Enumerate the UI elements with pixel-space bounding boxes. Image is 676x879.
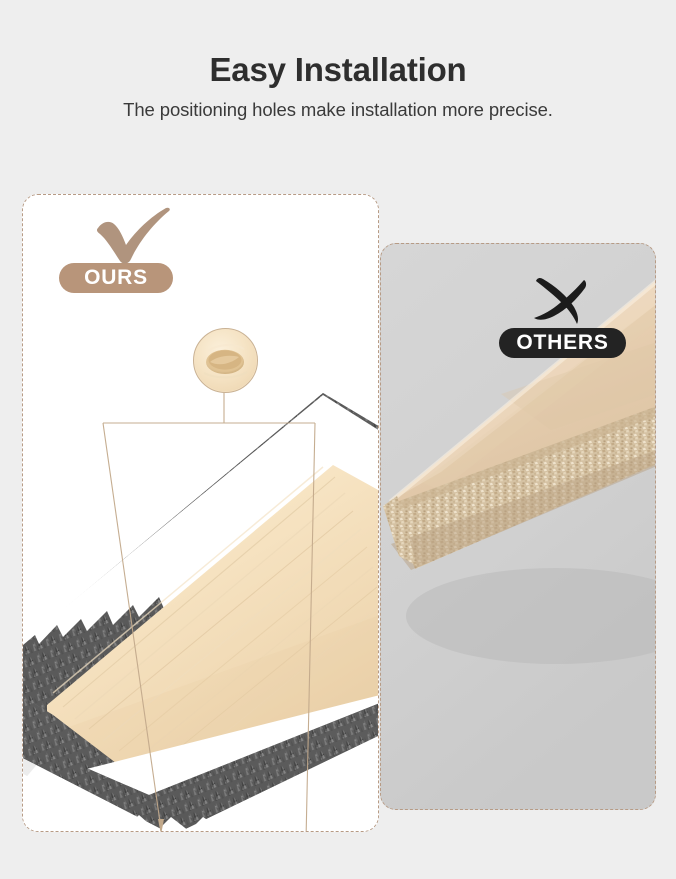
hole-detail-graphic <box>194 329 257 392</box>
comparison-panel-ours: OURS <box>22 194 379 832</box>
page-subtitle: The positioning holes make installation … <box>0 88 676 121</box>
badge-ours: OURS <box>59 263 173 293</box>
badge-block-ours: OURS <box>59 207 173 293</box>
product-comparison-page: Easy Installation The positioning holes … <box>0 0 676 879</box>
mark-wrap-ours <box>59 207 173 263</box>
page-title: Easy Installation <box>0 0 676 88</box>
check-icon <box>95 207 173 265</box>
hole-detail-callout <box>193 328 258 393</box>
badge-others: OTHERS <box>499 328 626 358</box>
cross-icon <box>527 274 595 328</box>
badge-block-others: OTHERS <box>499 272 626 358</box>
header: Easy Installation The positioning holes … <box>0 0 676 121</box>
comparison-panel-others: OTHERS <box>380 243 656 810</box>
mark-wrap-others <box>499 272 626 328</box>
